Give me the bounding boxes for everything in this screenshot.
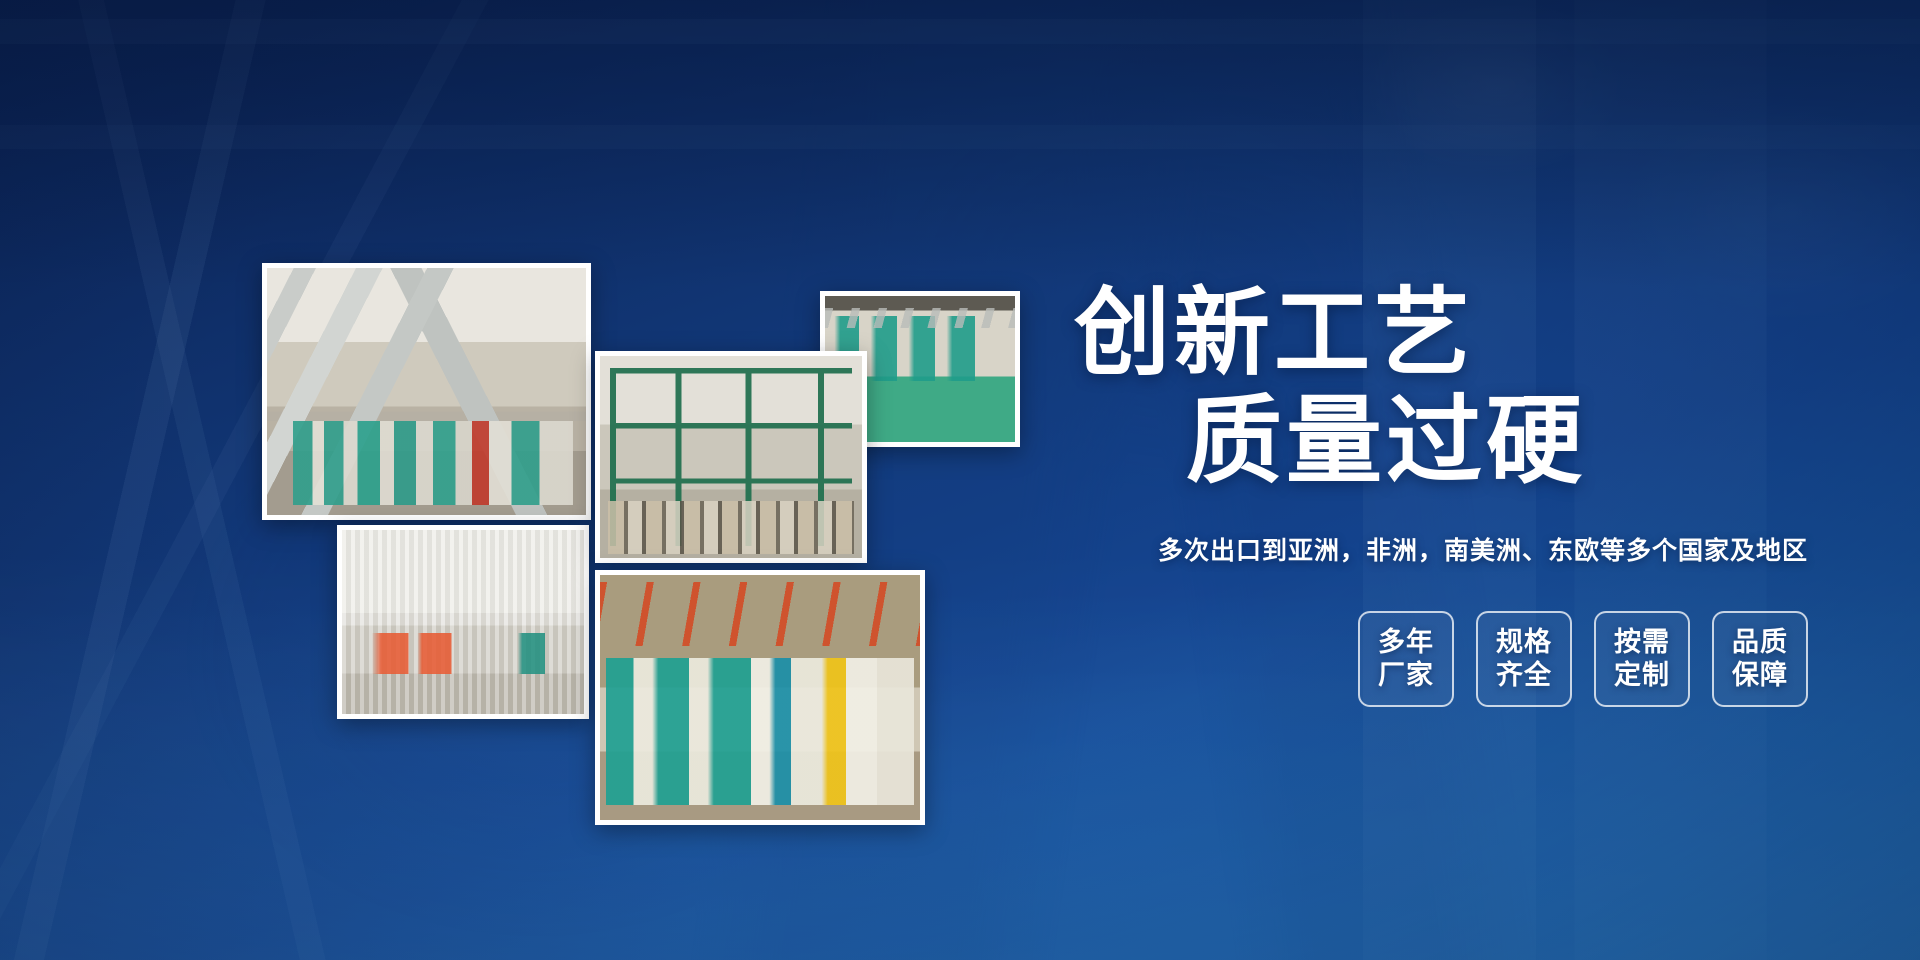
badge-years-manufacturer[interactable]: 多年 厂家 <box>1358 611 1454 707</box>
badge-full-specifications[interactable]: 规格 齐全 <box>1476 611 1572 707</box>
collage-photo-1-image <box>267 268 586 515</box>
collage-photo-1 <box>262 263 591 520</box>
badge-full-specifications-line-1: 规格 <box>1496 626 1552 659</box>
collage-photo-5 <box>595 570 925 825</box>
collage-photo-2-image <box>342 530 584 714</box>
feature-badges: 多年 厂家 规格 齐全 按需 定制 品质 保障 <box>1060 611 1820 707</box>
collage-photo-4 <box>595 351 867 563</box>
collage-photo-2 <box>337 525 589 719</box>
collage-photo-4-image <box>600 356 862 558</box>
promo-banner: 创新工艺 质量过硬 多次出口到亚洲，非洲，南美洲、东欧等多个国家及地区 多年 厂… <box>0 0 1920 960</box>
badge-quality-assurance[interactable]: 品质 保障 <box>1712 611 1808 707</box>
badge-quality-assurance-line-1: 品质 <box>1732 626 1788 659</box>
headline-line-1: 创新工艺 <box>1060 280 1820 388</box>
collage-photo-5-image <box>600 575 920 820</box>
badge-custom-made-line-1: 按需 <box>1614 626 1670 659</box>
badge-quality-assurance-line-2: 保障 <box>1732 659 1788 692</box>
headline: 创新工艺 质量过硬 <box>1060 280 1820 497</box>
badge-full-specifications-line-2: 齐全 <box>1496 659 1552 692</box>
badge-custom-made-line-2: 定制 <box>1614 659 1670 692</box>
banner-content: 创新工艺 质量过硬 多次出口到亚洲，非洲，南美洲、东欧等多个国家及地区 多年 厂… <box>1060 280 1820 707</box>
badge-years-manufacturer-line-2: 厂家 <box>1378 659 1434 692</box>
badge-custom-made[interactable]: 按需 定制 <box>1594 611 1690 707</box>
badge-years-manufacturer-line-1: 多年 <box>1378 626 1434 659</box>
headline-line-2: 质量过硬 <box>1060 388 1820 496</box>
subtitle: 多次出口到亚洲，非洲，南美洲、东欧等多个国家及地区 <box>1060 531 1820 567</box>
